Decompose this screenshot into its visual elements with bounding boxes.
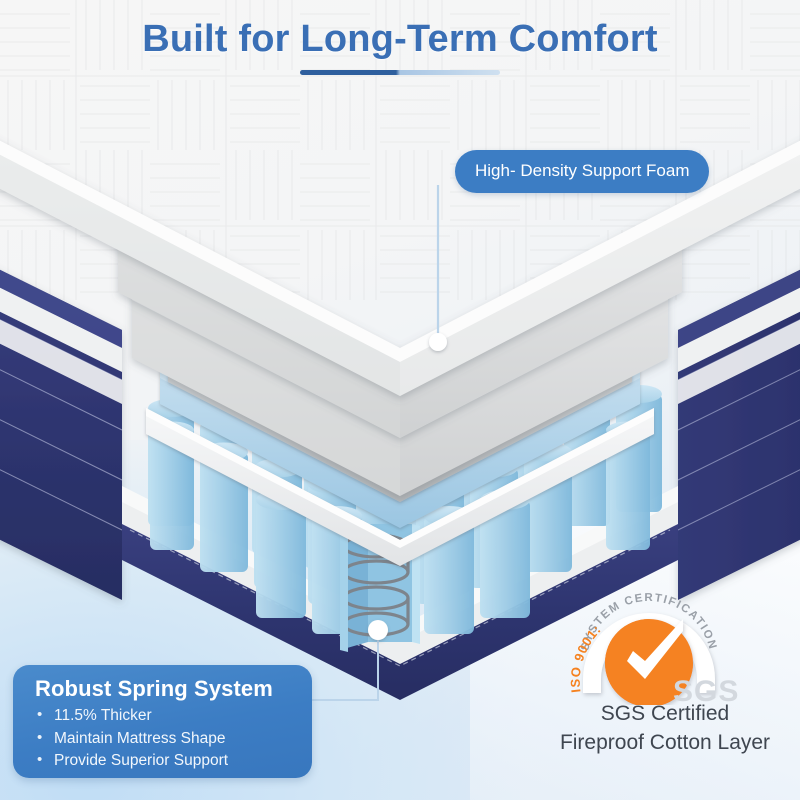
sgs-certification-logo: SYSTEM CERTIFICATION ISO 9001:2000 SGS <box>565 575 740 710</box>
spring-card-title: Robust Spring System <box>35 676 312 702</box>
list-item: 11.5% Thicker <box>35 705 312 728</box>
spring-callout-card[interactable]: Robust Spring System 11.5% Thicker Maint… <box>13 665 312 778</box>
sgs-caption-line2: Fireproof Cotton Layer <box>540 729 790 758</box>
list-item: Provide Superior Support <box>35 750 312 773</box>
spring-callout-dot <box>368 620 388 640</box>
foam-callout-badge[interactable]: High- Density Support Foam <box>455 150 709 193</box>
sgs-caption-line1: SGS Certified <box>540 700 790 729</box>
spring-card-bullets: 11.5% Thicker Maintain Mattress Shape Pr… <box>35 705 312 773</box>
foam-callout-label: High- Density Support Foam <box>475 161 689 180</box>
list-item: Maintain Mattress Shape <box>35 728 312 751</box>
foam-callout-dot <box>429 333 447 351</box>
infographic-canvas: Built for Long-Term Comfort High- Densit… <box>0 0 800 800</box>
title-underline <box>300 70 500 75</box>
sgs-caption: SGS Certified Fireproof Cotton Layer <box>540 700 790 757</box>
page-title: Built for Long-Term Comfort <box>0 18 800 61</box>
